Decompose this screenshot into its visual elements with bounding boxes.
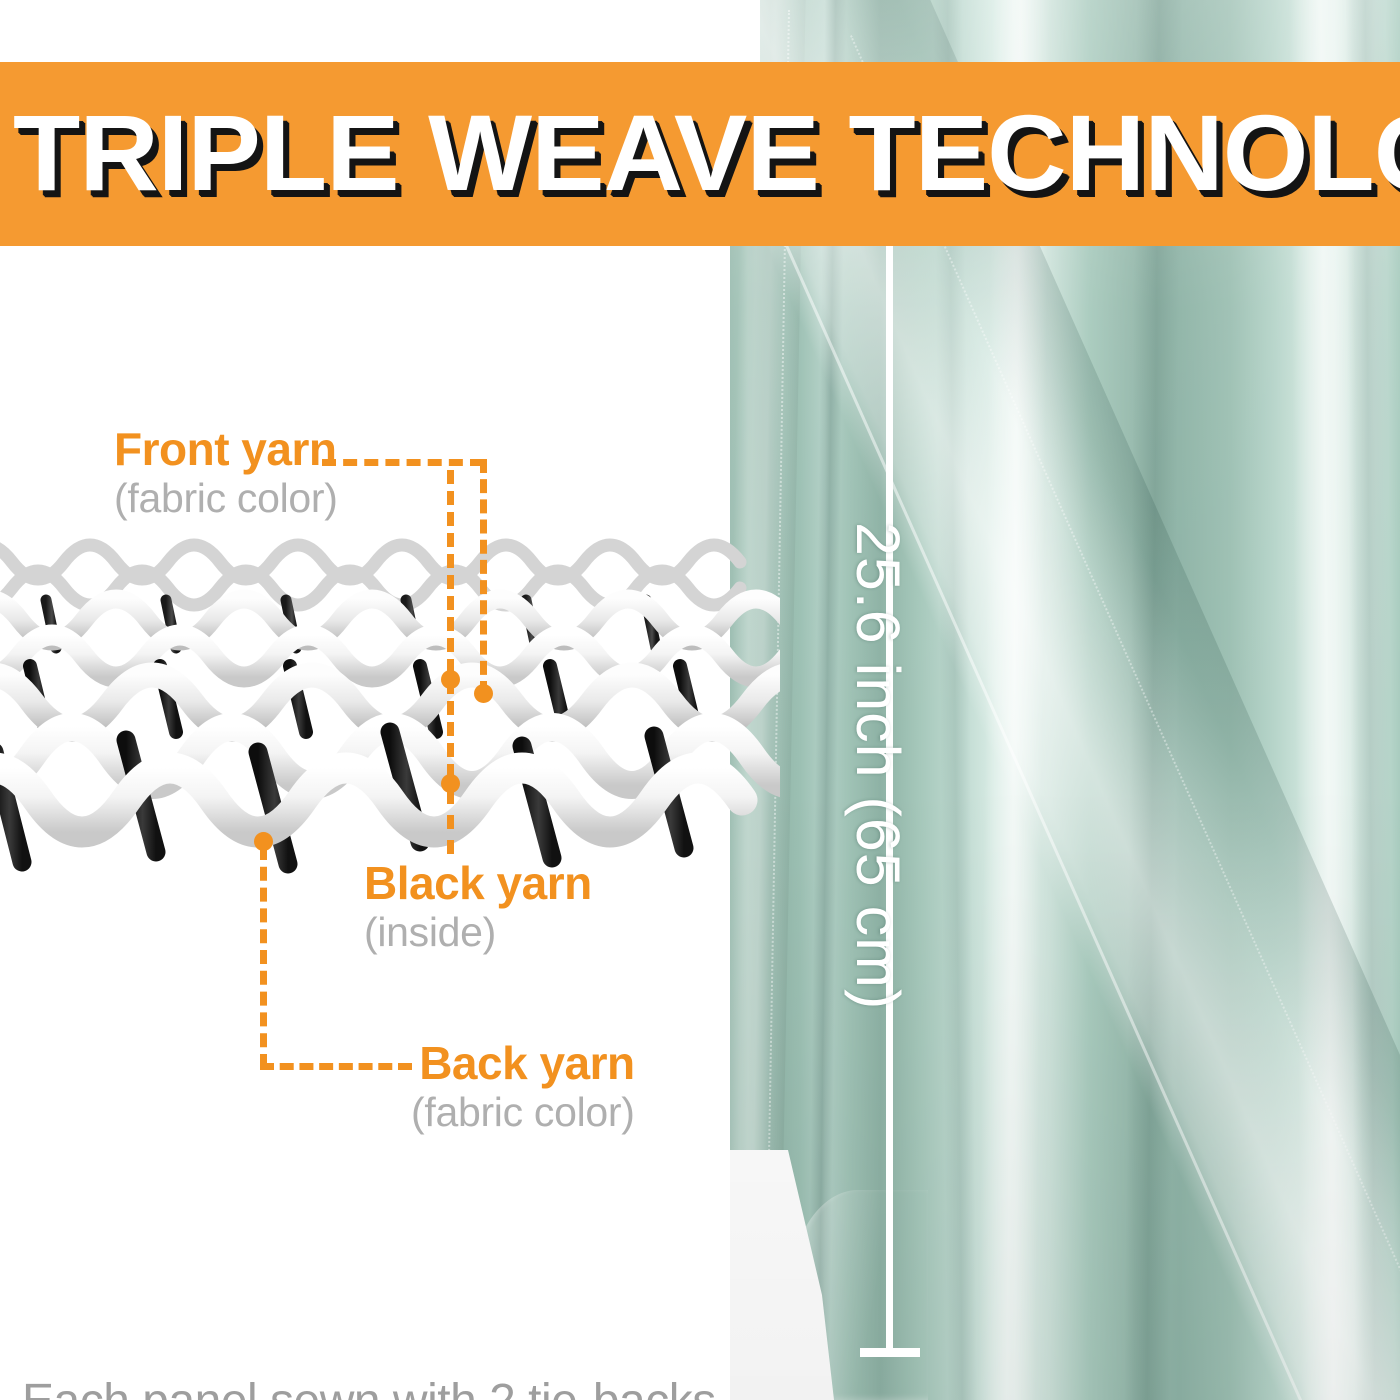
black-yarn-marker-dot-upper bbox=[441, 670, 460, 689]
black-yarn-leader-upper bbox=[447, 470, 454, 778]
callout-black-yarn-title: Black yarn bbox=[364, 858, 592, 908]
black-yarn-leader-lower bbox=[447, 790, 454, 854]
callout-black-yarn-subtitle: (inside) bbox=[364, 908, 592, 956]
front-yarn-leader-vertical bbox=[480, 459, 487, 695]
triple-weave-illustration bbox=[0, 470, 780, 890]
measurement-end-cap bbox=[860, 1348, 920, 1357]
front-yarn-marker-dot bbox=[474, 684, 493, 703]
callout-back-yarn-subtitle: (fabric color) bbox=[411, 1088, 635, 1136]
weave-diagram-svg bbox=[0, 470, 780, 890]
callout-black-yarn: Black yarn (inside) bbox=[364, 858, 592, 956]
back-yarn-leader-vertical bbox=[260, 846, 267, 1068]
infographic-canvas: 25.6 inch (65 cm) TRIPLE WEAVE TECHNOLOG… bbox=[0, 0, 1400, 1400]
callout-back-yarn-title: Back yarn bbox=[411, 1038, 635, 1088]
page-title: TRIPLE WEAVE TECHNOLOGY bbox=[13, 94, 1400, 212]
back-yarn-leader-horizontal bbox=[260, 1063, 412, 1070]
header-banner: TRIPLE WEAVE TECHNOLOGY bbox=[0, 62, 1400, 246]
front-yarn-leader-horizontal bbox=[322, 459, 484, 466]
bottom-notes: Each panel sewn with 2 tie-backs A set o… bbox=[22, 1247, 716, 1400]
measurement-label: 25.6 inch (65 cm) bbox=[843, 522, 913, 1010]
photo-top-left-cutout bbox=[730, 0, 760, 62]
note-line-1: Each panel sewn with 2 tie-backs bbox=[22, 1371, 716, 1400]
weave-row-mid bbox=[0, 599, 780, 677]
callout-front-yarn: Front yarn (fabric color) bbox=[114, 424, 338, 522]
callout-front-yarn-subtitle: (fabric color) bbox=[114, 474, 338, 522]
callout-front-yarn-title: Front yarn bbox=[114, 424, 338, 474]
callout-back-yarn: Back yarn (fabric color) bbox=[411, 1038, 635, 1136]
